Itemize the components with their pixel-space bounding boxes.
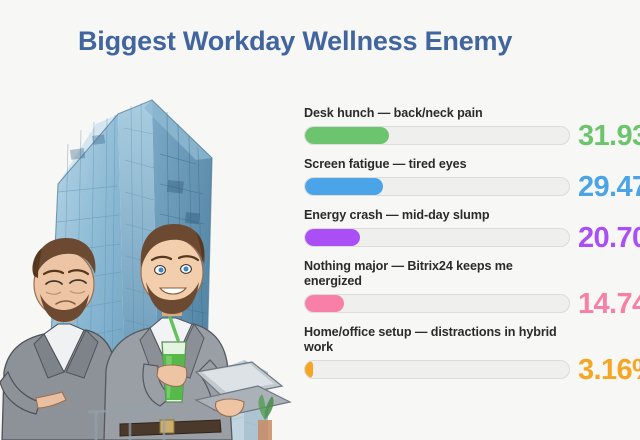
poll-percentage-value: 20.70% xyxy=(578,222,640,255)
poll-bar-fill xyxy=(305,229,360,246)
poll-bar: 29.47% xyxy=(304,177,640,197)
poll-bar-fill xyxy=(305,295,344,312)
poll-row: Nothing major — Bitrix24 keeps me energi… xyxy=(304,259,640,314)
poll-bar: 31.93% xyxy=(304,126,640,146)
poll-bar: 14.74% xyxy=(304,294,640,314)
poll-option-label: Nothing major — Bitrix24 keeps me energi… xyxy=(304,259,566,289)
poll-bar-fill xyxy=(305,178,383,195)
poll-bar-track xyxy=(304,126,570,145)
poll-bar: 3.16% xyxy=(304,360,640,380)
poll-percentage-value: 31.93% xyxy=(578,120,640,153)
poll-results-list: Desk hunch — back/neck pain 31.93% Scree… xyxy=(304,106,640,391)
poll-option-label: Screen fatigue — tired eyes xyxy=(304,157,566,172)
poll-poster: Biggest Workday Wellness Enemy xyxy=(0,0,640,440)
poll-bar-track xyxy=(304,294,570,313)
poll-bar-track xyxy=(304,177,570,196)
poll-option-label: Home/office setup — distractions in hybr… xyxy=(304,325,566,355)
poll-row: Desk hunch — back/neck pain 31.93% xyxy=(304,106,640,146)
poll-percentage-value: 29.47% xyxy=(578,171,640,204)
poll-option-label: Energy crash — mid-day slump xyxy=(304,208,566,223)
poll-option-label: Desk hunch — back/neck pain xyxy=(304,106,566,121)
two-businessmen-skyscraper-illustration xyxy=(0,72,292,440)
page-title: Biggest Workday Wellness Enemy xyxy=(78,26,512,57)
poll-row: Energy crash — mid-day slump 20.70% xyxy=(304,208,640,248)
poll-percentage-value: 3.16% xyxy=(578,354,640,387)
poll-row: Screen fatigue — tired eyes 29.47% xyxy=(304,157,640,197)
poll-percentage-value: 14.74% xyxy=(578,288,640,321)
poll-bar-fill xyxy=(305,127,389,144)
poll-bar: 20.70% xyxy=(304,228,640,248)
poll-row: Home/office setup — distractions in hybr… xyxy=(304,325,640,380)
poll-bar-fill xyxy=(305,361,313,378)
poll-bar-track xyxy=(304,228,570,247)
poll-bar-track xyxy=(304,360,570,379)
